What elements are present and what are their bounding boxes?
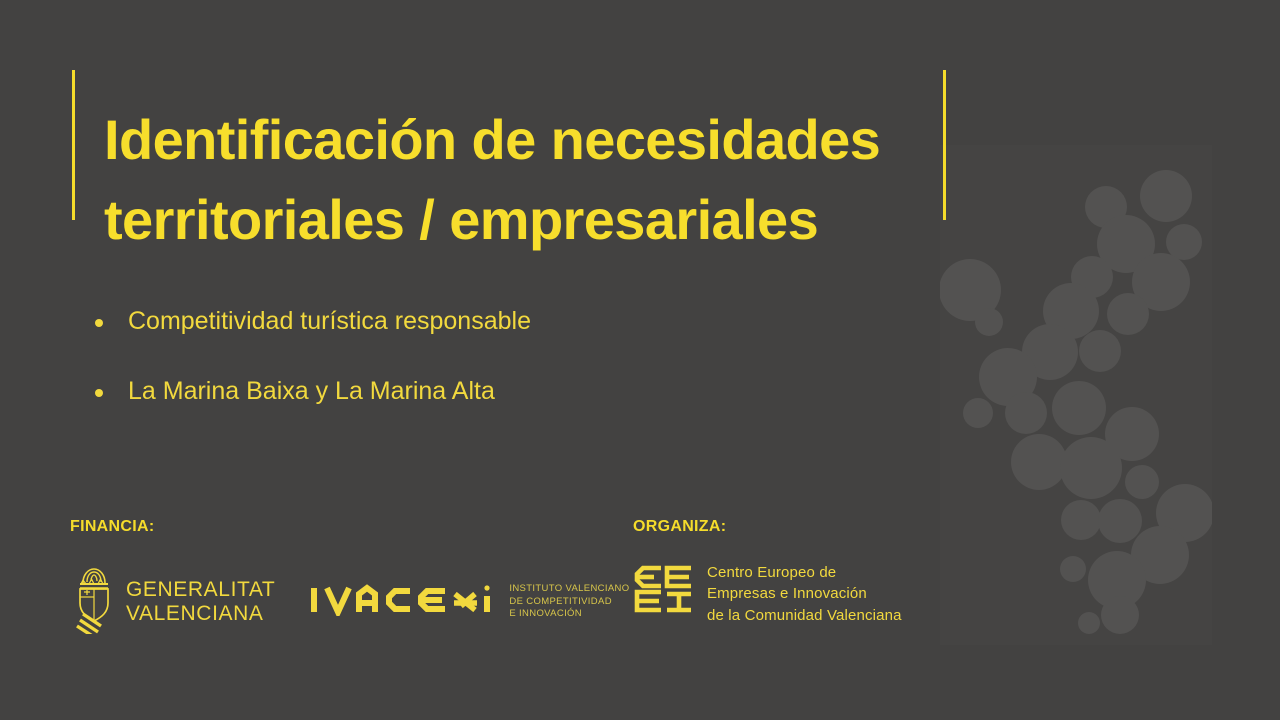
list-item-label: La Marina Baixa y La Marina Alta: [128, 377, 495, 405]
generalitat-valenciana-emblem-icon: [70, 564, 118, 639]
list-item: Competitividad turística responsable: [88, 308, 848, 336]
generalitat-valenciana-wordmark: GENERALITAT VALENCIANA: [126, 578, 275, 625]
pattern-dot: [1107, 293, 1149, 335]
organiza-logo-row: Centro Europeo de Empresas e Innovación …: [633, 564, 902, 626]
pattern-dot: [1125, 465, 1159, 499]
organiza-label: ORGANIZA:: [633, 518, 902, 536]
pattern-dot: [1052, 381, 1106, 435]
ceei-wordmark: Centro Europeo de Empresas e Innovación …: [707, 562, 902, 626]
pattern-dot: [1101, 596, 1139, 634]
accent-rule-left: [72, 70, 75, 220]
list-item-label: Competitividad turística responsable: [128, 307, 531, 335]
pattern-dot: [1060, 556, 1086, 582]
page-title: Identificación de necesidades territoria…: [104, 100, 934, 260]
ivace-tagline: INSTITUTO VALENCIANO DE COMPETITIVIDAD E…: [509, 583, 629, 621]
ivace-plus-i-wordmark-icon: [309, 582, 501, 621]
pattern-dot: [1060, 437, 1122, 499]
generalitat-valenciana-logo: GENERALITAT VALENCIANA: [70, 564, 275, 639]
pattern-dot: [975, 308, 1003, 336]
pattern-dot: [1098, 499, 1142, 543]
pattern-dot: [1166, 224, 1202, 260]
financia-label: FINANCIA:: [70, 518, 630, 536]
accent-rule-right: [943, 70, 946, 220]
dot-pattern-decoration: [940, 145, 1212, 645]
pattern-dot: [1011, 434, 1067, 490]
ceei-block-icon: [633, 564, 695, 621]
pattern-dot: [1079, 330, 1121, 372]
bullet-list: Competitividad turística responsable La …: [88, 308, 848, 447]
pattern-dot: [1078, 612, 1100, 634]
dot-pattern-svg: [940, 145, 1212, 645]
financia-section: FINANCIA:: [70, 518, 630, 639]
ivace-logo: INSTITUTO VALENCIANO DE COMPETITIVIDAD E…: [309, 582, 629, 621]
financia-logo-row: GENERALITAT VALENCIANA: [70, 564, 630, 639]
pattern-dot: [963, 398, 993, 428]
organiza-section: ORGANIZA:: [633, 518, 902, 626]
presentation-slide: Identificación de necesidades territoria…: [0, 0, 1280, 720]
title-block: Identificación de necesidades territoria…: [72, 62, 952, 222]
pattern-dot: [1140, 170, 1192, 222]
pattern-dot: [1005, 392, 1047, 434]
ceei-logo: Centro Europeo de Empresas e Innovación …: [633, 564, 902, 626]
list-item: La Marina Baixa y La Marina Alta: [88, 378, 848, 406]
pattern-dot: [1061, 500, 1101, 540]
